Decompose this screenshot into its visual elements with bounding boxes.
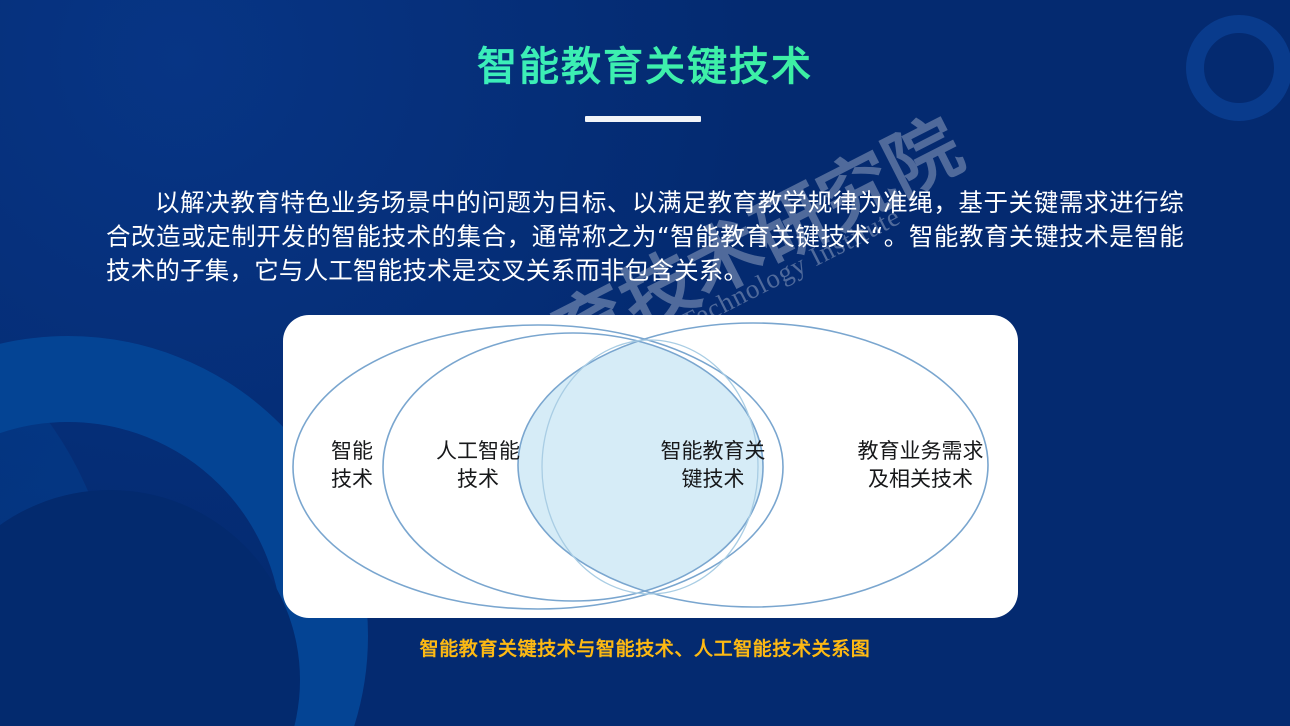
title-divider [585, 116, 701, 122]
figure-caption: 智能教育关键技术与智能技术、人工智能技术关系图 [0, 634, 1290, 661]
venn-label-education-business-needs: 教育业务需求 及相关技术 [828, 437, 1013, 493]
page-title: 智能教育关键技术 [0, 34, 1290, 92]
body-paragraph: 以解决教育特色业务场景中的问题为目标、以满足教育教学规律为准绳，基于关键需求进行… [106, 186, 1184, 288]
venn-label-ai-technology: 人工智能 技术 [413, 437, 543, 493]
slide-root: 智能教育关键技术 以解决教育特色业务场景中的问题为目标、以满足教育教学规律为准绳… [0, 0, 1290, 726]
venn-label-key-technology: 智能教育关 键技术 [633, 437, 793, 493]
venn-label-intelligent-technology: 智能 技术 [307, 437, 397, 493]
venn-diagram-card: 智能 技术 人工智能 技术 智能教育关 键技术 教育业务需求 及相关技术 [283, 315, 1018, 618]
